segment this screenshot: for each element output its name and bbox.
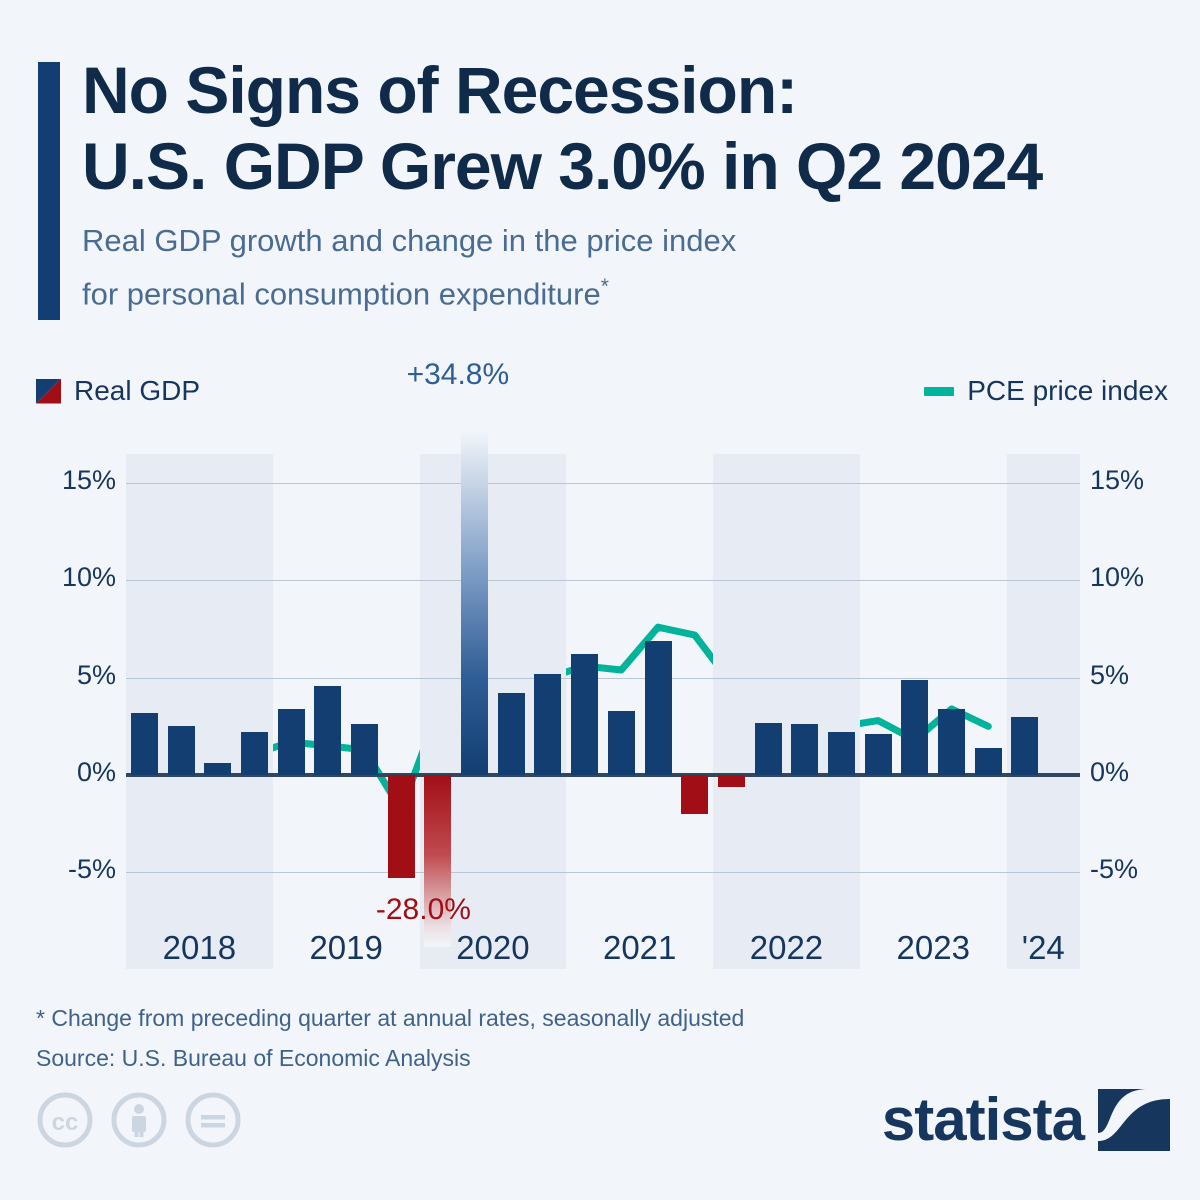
creative-commons-icons: cc: [36, 1091, 242, 1149]
bar-q1-2021[interactable]: [571, 654, 598, 775]
bar-q3-2022[interactable]: [791, 724, 818, 775]
zero-baseline: [126, 773, 1080, 777]
x-axis-year-2022: 2022: [713, 929, 860, 967]
x-axis-year-2023: 2023: [860, 929, 1007, 967]
gridline--5: [126, 872, 1080, 873]
subtitle-line-2: for personal consumption expenditure*: [82, 264, 1172, 317]
footnote-note: * Change from preceding quarter at annua…: [36, 998, 1036, 1038]
bar-q3-2018[interactable]: [204, 763, 231, 775]
legend-swatch-pce-line: [924, 387, 954, 396]
chart-legend: Real GDP PCE price index: [0, 375, 1200, 423]
annotation-trough-value: -28.0%: [376, 893, 471, 927]
bar-q4-2020[interactable]: [534, 674, 561, 775]
cc-icon[interactable]: cc: [36, 1091, 94, 1149]
bar-q1-2019[interactable]: [278, 709, 305, 775]
gridline-15: [126, 483, 1080, 484]
bar-q4-2021[interactable]: [681, 775, 708, 814]
bar-q1-2022[interactable]: [718, 775, 745, 787]
bar-q4-2023[interactable]: [975, 748, 1002, 775]
footnote-source: Source: U.S. Bureau of Economic Analysis: [36, 1038, 1036, 1078]
subtitle: Real GDP growth and change in the price …: [82, 218, 1172, 317]
bar-q1-2024[interactable]: [1011, 717, 1038, 775]
y-axis-tick-right-10: 10%: [1090, 562, 1144, 593]
gridline-10: [126, 580, 1080, 581]
x-axis-year-2019: 2019: [273, 929, 420, 967]
statista-mark-icon: [1098, 1089, 1170, 1151]
bar-q3-2020[interactable]: [498, 693, 525, 775]
title-line-2: U.S. GDP Grew 3.0% in Q2 2024: [82, 128, 1172, 204]
bar-q2-2020[interactable]: [461, 430, 488, 775]
cc-nd-equals-icon[interactable]: [184, 1091, 242, 1149]
statista-wordmark: statista: [882, 1090, 1084, 1150]
legend-swatch-real-gdp: [36, 379, 61, 404]
bar-q4-2022[interactable]: [828, 732, 855, 775]
page-title: No Signs of Recession: U.S. GDP Grew 3.0…: [82, 52, 1172, 317]
bar-q2-2019[interactable]: [314, 686, 341, 776]
bar-q1-2018[interactable]: [131, 713, 158, 775]
legend-item-pce-price-index[interactable]: PCE price index: [924, 375, 1168, 407]
footnotes: * Change from preceding quarter at annua…: [36, 998, 1036, 1078]
x-axis-year-2021: 2021: [566, 929, 713, 967]
y-axis-tick-left-10: 10%: [20, 562, 116, 593]
bar-q2-2018[interactable]: [168, 726, 195, 775]
statista-logo[interactable]: statista: [882, 1089, 1170, 1151]
y-axis-tick-right-0: 0%: [1090, 757, 1129, 788]
y-axis-tick-left-15: 15%: [20, 465, 116, 496]
legend-label-pce-price-index: PCE price index: [967, 375, 1168, 407]
header: No Signs of Recession: U.S. GDP Grew 3.0…: [0, 0, 1200, 345]
bar-q4-2019[interactable]: [388, 775, 415, 878]
legend-item-real-gdp[interactable]: Real GDP: [36, 375, 200, 407]
legend-label-real-gdp: Real GDP: [74, 375, 200, 407]
gridline-5: [126, 678, 1080, 679]
x-axis-year-2018: 2018: [126, 929, 273, 967]
year-band-2018: [126, 454, 273, 921]
bar-q4-2018[interactable]: [241, 732, 268, 775]
title-accent-bar: [38, 62, 60, 320]
year-band-24: [1007, 454, 1080, 921]
bar-q3-2019[interactable]: [351, 724, 378, 775]
plot-area: [126, 454, 1080, 921]
x-axis-year-24: '24: [1007, 929, 1080, 967]
cc-by-person-icon[interactable]: [110, 1091, 168, 1149]
subtitle-line-2-text: for personal consumption expenditure: [82, 276, 601, 311]
y-axis-tick-left-0: 0%: [20, 757, 116, 788]
bar-q1-2023[interactable]: [865, 734, 892, 775]
bar-q3-2023[interactable]: [938, 709, 965, 775]
bar-q3-2021[interactable]: [645, 641, 672, 775]
chart-area: +34.8% -28.0% 15%15%10%10%5%5%0%0%-5%-5%…: [0, 430, 1200, 990]
y-axis-tick-right-15: 15%: [1090, 465, 1144, 496]
y-axis-tick-right-5: 5%: [1090, 660, 1129, 691]
y-axis-tick-right--5: -5%: [1090, 854, 1138, 885]
svg-text:cc: cc: [52, 1109, 79, 1136]
footer: cc statista: [0, 1085, 1200, 1185]
title-line-1: No Signs of Recession:: [82, 52, 1172, 128]
bar-q2-2023[interactable]: [901, 680, 928, 775]
subtitle-line-1: Real GDP growth and change in the price …: [82, 218, 1172, 264]
annotation-peak-value: +34.8%: [407, 358, 510, 392]
x-axis-year-2020: 2020: [420, 929, 567, 967]
y-axis-tick-left-5: 5%: [20, 660, 116, 691]
bar-q2-2022[interactable]: [755, 723, 782, 776]
bar-q2-2021[interactable]: [608, 711, 635, 775]
subtitle-asterisk: *: [601, 275, 609, 298]
y-axis-tick-left--5: -5%: [20, 854, 116, 885]
year-band-2022: [713, 454, 860, 921]
